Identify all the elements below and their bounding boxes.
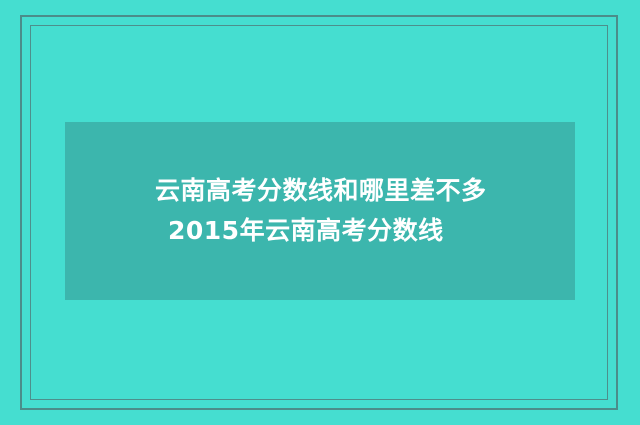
title-line-1: 云南高考分数线和哪里差不多 [95,171,575,211]
caption-plate: 云南高考分数线和哪里差不多 2015年云南高考分数线 [65,122,575,300]
title-block: 云南高考分数线和哪里差不多 2015年云南高考分数线 [65,171,575,251]
poster-canvas: 云南高考分数线和哪里差不多 2015年云南高考分数线 [0,0,640,425]
title-line-2: 2015年云南高考分数线 [95,211,575,251]
